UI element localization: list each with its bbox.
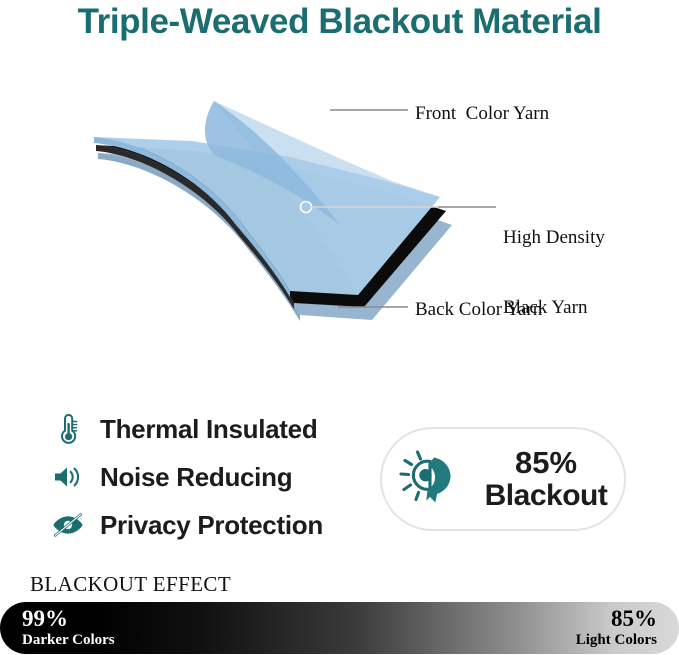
left-caption: Darker Colors	[22, 632, 115, 648]
speaker-icon	[48, 459, 88, 495]
feature-label: Privacy Protection	[100, 510, 323, 541]
blackout-effect-left-stat: 99% Darker Colors	[22, 607, 115, 648]
sun-blocked-icon	[392, 443, 476, 515]
feature-list: Thermal Insulated Noise Reducing Privacy…	[48, 405, 378, 549]
feature-item-thermal-insulated: Thermal Insulated	[48, 405, 378, 453]
feature-label: Noise Reducing	[100, 462, 292, 493]
blackout-badge-text: 85% Blackout	[476, 447, 624, 511]
blackout-percent: 85%	[476, 447, 616, 480]
right-percent: 85%	[576, 607, 657, 632]
blackout-percentage-badge: 85% Blackout	[380, 427, 626, 531]
feature-label: Thermal Insulated	[100, 414, 317, 445]
feature-item-noise-reducing: Noise Reducing	[48, 453, 378, 501]
callout-line-1: High Density	[503, 226, 605, 249]
blackout-word: Blackout	[476, 480, 616, 512]
blackout-effect-right-stat: 85% Light Colors	[576, 607, 657, 648]
blackout-effect-title: BLACKOUT EFFECT	[30, 572, 231, 597]
callout-label-back-color-yarn: Back Color Yarn	[415, 298, 542, 321]
page-title: Triple-Weaved Blackout Material	[0, 2, 679, 42]
blackout-effect-gradient-bar: 99% Darker Colors 85% Light Colors	[0, 602, 679, 654]
left-percent: 99%	[22, 607, 115, 632]
eye-off-icon	[48, 507, 88, 543]
feature-item-privacy-protection: Privacy Protection	[48, 501, 378, 549]
thermometer-icon	[48, 411, 88, 447]
callout-label-front-color-yarn: Front Color Yarn	[415, 102, 549, 125]
right-caption: Light Colors	[576, 632, 657, 648]
